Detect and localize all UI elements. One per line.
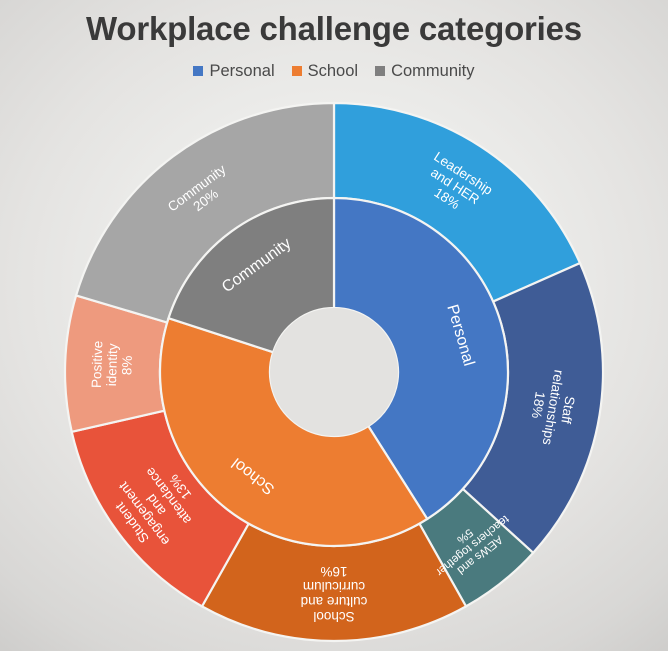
donut-svg: Leadershipand HER18%Staffrelationships18… [0,0,668,651]
donut-center-hole [270,308,398,436]
sunburst-chart-root: Workplace challenge categories Personal … [0,0,668,651]
